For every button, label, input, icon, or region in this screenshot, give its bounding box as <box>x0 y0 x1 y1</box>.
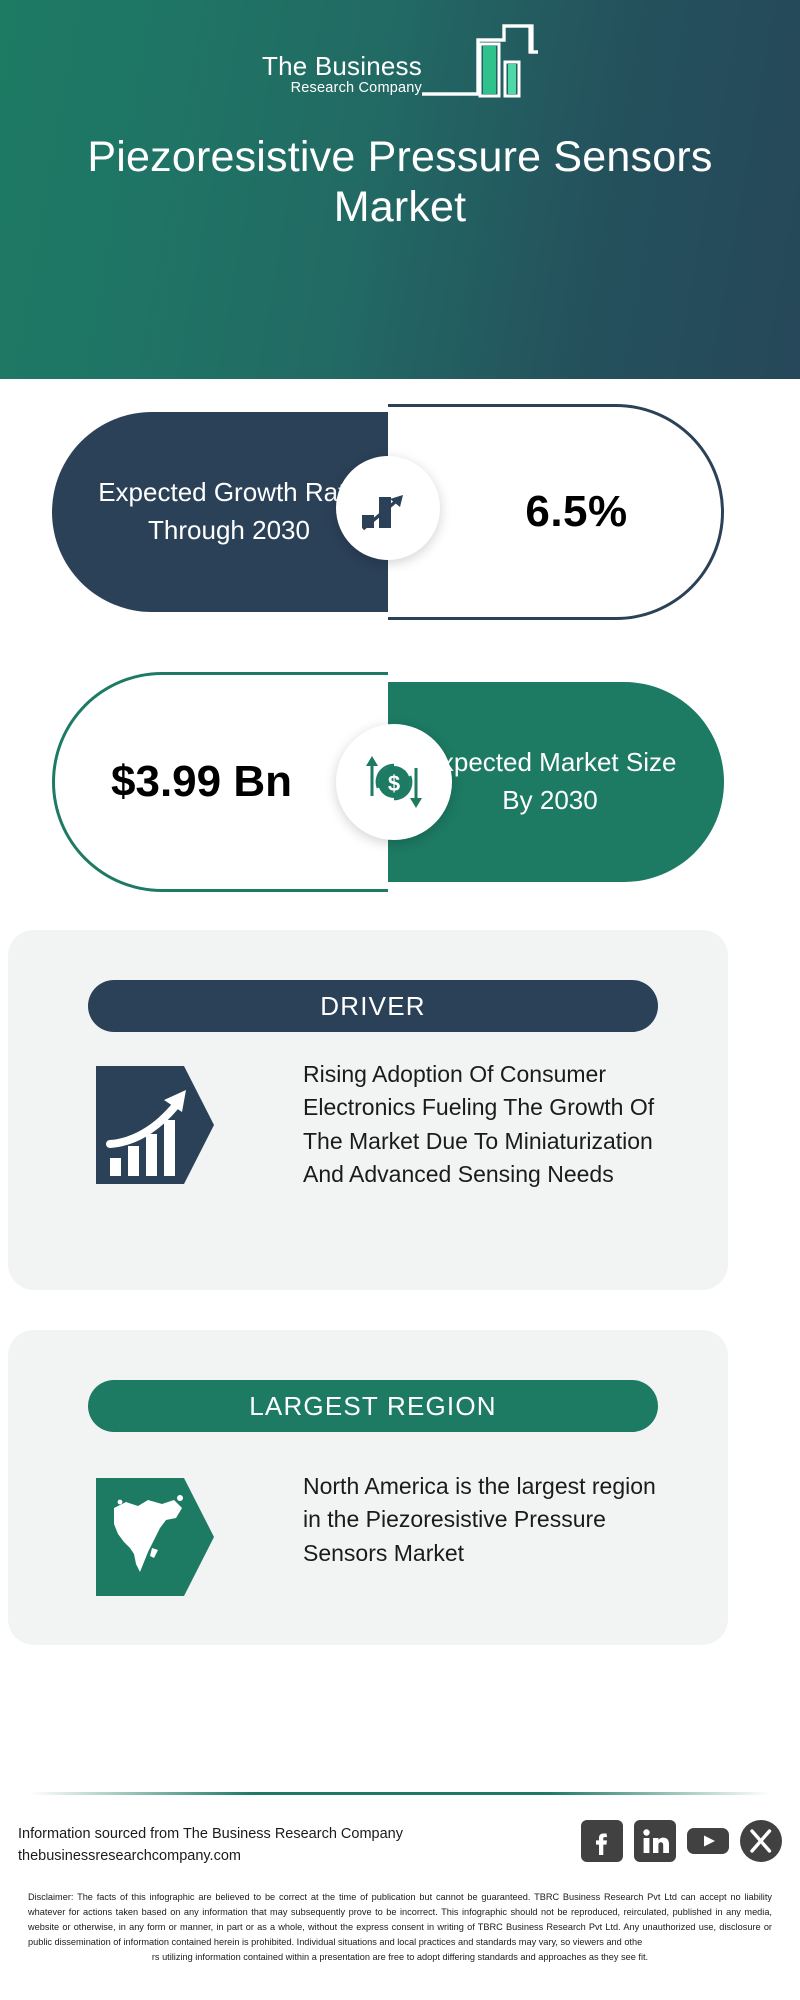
logo-bar-chart-icon <box>420 22 538 100</box>
infographic-page: The Business Research Company Piezoresis… <box>0 0 800 2000</box>
youtube-icon[interactable] <box>687 1820 729 1862</box>
driver-pill-label: DRIVER <box>88 980 658 1032</box>
x-twitter-icon[interactable] <box>740 1820 782 1862</box>
facebook-icon[interactable] <box>581 1820 623 1862</box>
company-logo: The Business Research Company <box>0 22 800 102</box>
largest-region-panel: LARGEST REGION North America is the larg… <box>8 1330 728 1645</box>
logo-text: The Business Research Company <box>262 53 422 102</box>
north-america-map-icon <box>96 1478 214 1596</box>
source-block: Information sourced from The Business Re… <box>18 1824 403 1868</box>
growth-chart-arrow-icon <box>96 1066 214 1184</box>
page-title: Piezoresistive Pressure Sensors Market <box>60 132 740 233</box>
region-icon-wrap <box>96 1478 214 1596</box>
linkedin-icon[interactable] <box>634 1820 676 1862</box>
footer-divider <box>30 1792 770 1795</box>
market-size-icon-badge: $ <box>336 724 452 840</box>
bar-chart-growth-icon <box>357 477 419 539</box>
driver-icon-wrap <box>96 1066 214 1184</box>
dollar-circular-arrows-icon: $ <box>356 744 432 820</box>
svg-text:$: $ <box>388 771 400 796</box>
header-banner: The Business Research Company Piezoresis… <box>0 0 800 379</box>
driver-body-text: Rising Adoption Of Consumer Electronics … <box>303 1058 668 1191</box>
growth-rate-icon-badge <box>336 456 440 560</box>
social-links <box>581 1820 782 1862</box>
largest-region-pill-label: LARGEST REGION <box>88 1380 658 1432</box>
region-body-text: North America is the largest region in t… <box>303 1470 668 1570</box>
logo-line-1: The Business <box>262 53 422 80</box>
logo-line-2: Research Company <box>262 81 422 96</box>
source-line-2[interactable]: thebusinessresearchcompany.com <box>18 1846 403 1868</box>
growth-rate-value: 6.5% <box>481 487 627 537</box>
disclaimer-text: Disclaimer: The facts of this infographi… <box>28 1890 772 1965</box>
source-line-1: Information sourced from The Business Re… <box>18 1824 403 1846</box>
driver-panel: DRIVER Rising Adoption Of Consumer Elect… <box>8 930 728 1290</box>
disclaimer-main: Disclaimer: The facts of this infographi… <box>28 1892 772 1947</box>
disclaimer-tail: rs utilizing information contained withi… <box>28 1950 772 1965</box>
market-size-value: $3.99 Bn <box>111 752 332 811</box>
